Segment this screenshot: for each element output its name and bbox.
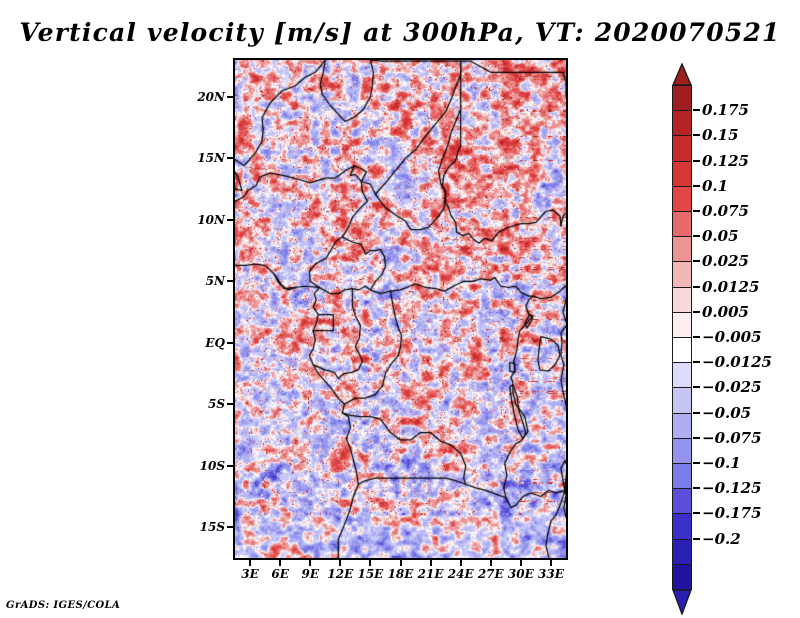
colorbar-band <box>672 413 692 439</box>
colorbar-band <box>672 236 692 262</box>
colorbar-tick-label: −0.05 <box>702 404 751 422</box>
colorbar-tick-label: −0.075 <box>702 429 762 447</box>
latitude-tick-mark <box>227 342 233 344</box>
colorbar-tick-label: −0.0125 <box>702 353 772 371</box>
longitude-tick-label: 27E <box>478 567 504 581</box>
latitude-tick-mark <box>227 465 233 467</box>
colorbar-tick-mark <box>693 538 700 540</box>
colorbar-band <box>672 463 692 489</box>
latitude-tick-label: 15N <box>189 151 225 165</box>
longitude-tick-mark <box>460 560 462 566</box>
colorbar-tick-label: −0.125 <box>702 479 762 497</box>
longitude-tick-mark <box>550 560 552 566</box>
longitude-tick-label: 6E <box>271 567 289 581</box>
colorbar-band <box>672 513 692 539</box>
longitude-tick-mark <box>430 560 432 566</box>
colorbar-tick-mark <box>693 160 700 162</box>
map-plot-area[interactable] <box>233 58 568 560</box>
colorbar-tick-label: 0.075 <box>702 202 749 220</box>
longitude-tick-mark <box>279 560 281 566</box>
latitude-tick-mark <box>227 280 233 282</box>
colorbar-band <box>672 362 692 388</box>
latitude-tick-mark <box>227 403 233 405</box>
colorbar-band <box>672 539 692 565</box>
longitude-tick-mark <box>339 560 341 566</box>
longitude-tick-mark <box>400 560 402 566</box>
colorbar-tick-mark <box>693 386 700 388</box>
colorbar-band <box>672 85 692 111</box>
latitude-tick-label: 10S <box>189 459 225 473</box>
colorbar-tick-mark <box>693 185 700 187</box>
longitude-tick-mark <box>520 560 522 566</box>
longitude-tick-label: 21E <box>418 567 444 581</box>
longitude-tick-label: 12E <box>327 567 353 581</box>
colorbar-tick-mark <box>693 235 700 237</box>
colorbar-tick-mark <box>693 336 700 338</box>
colorbar-band <box>672 287 692 313</box>
longitude-tick-mark <box>309 560 311 566</box>
latitude-tick-mark <box>227 96 233 98</box>
longitude-tick-mark <box>249 560 251 566</box>
colorbar-tick-mark <box>693 134 700 136</box>
longitude-tick-mark <box>490 560 492 566</box>
colorbar-band <box>672 564 692 590</box>
colorbar-band <box>672 312 692 338</box>
colorbar-tick-label: −0.005 <box>702 328 762 346</box>
colorbar-tick-mark <box>693 437 700 439</box>
colorbar-tick-label: 0.175 <box>702 101 749 119</box>
colorbar-tick-mark <box>693 210 700 212</box>
colorbar-tick-mark <box>693 512 700 514</box>
latitude-tick-label: 15S <box>189 520 225 534</box>
latitude-tick-mark <box>227 219 233 221</box>
colorbar-tick-label: 0.1 <box>702 177 728 195</box>
longitude-tick-label: 15E <box>357 567 383 581</box>
colorbar-band <box>672 211 692 237</box>
colorbar-tick-mark <box>693 487 700 489</box>
colorbar-tick-mark <box>693 260 700 262</box>
longitude-tick-label: 9E <box>301 567 319 581</box>
colorbar-tick-label: 0.0125 <box>702 278 759 296</box>
latitude-tick-label: 5N <box>189 274 225 288</box>
colorbar-tick-mark <box>693 311 700 313</box>
page-title: Vertical velocity [m/s] at 300hPa, VT: 2… <box>0 18 800 47</box>
longitude-tick-label: 3E <box>241 567 259 581</box>
colorbar-tick-label: 0.125 <box>702 152 749 170</box>
longitude-tick-mark <box>369 560 371 566</box>
colorbar-tick-label: 0.05 <box>702 227 739 245</box>
longitude-tick-label: 30E <box>508 567 534 581</box>
latitude-tick-mark <box>227 526 233 528</box>
colorbar-tick-label: −0.1 <box>702 454 741 472</box>
colorbar-band <box>672 438 692 464</box>
latitude-tick-label: 20N <box>189 90 225 104</box>
colorbar-tick-label: −0.2 <box>702 530 741 548</box>
latitude-tick-mark <box>227 157 233 159</box>
colorbar-band <box>672 488 692 514</box>
grads-plot-page: Vertical velocity [m/s] at 300hPa, VT: 2… <box>0 0 800 618</box>
colorbar-band <box>672 186 692 212</box>
colorbar-arrow-top <box>670 63 694 87</box>
colorbar-tick-mark <box>693 109 700 111</box>
grads-credit: GrADS: IGES/COLA <box>6 600 120 611</box>
colorbar-band <box>672 387 692 413</box>
colorbar-band <box>672 110 692 136</box>
colorbar-tick-label: 0.005 <box>702 303 749 321</box>
colorbar-band <box>672 161 692 187</box>
colorbar-band <box>672 135 692 161</box>
colorbar-tick-label: −0.025 <box>702 378 762 396</box>
colorbar-band <box>672 261 692 287</box>
longitude-tick-label: 18E <box>388 567 414 581</box>
colorbar-tick-mark <box>693 361 700 363</box>
colorbar-tick-label: −0.175 <box>702 504 762 522</box>
colorbar-arrow-bottom <box>670 589 694 615</box>
colorbar-tick-label: 0.025 <box>702 252 749 270</box>
colorbar-tick-label: 0.15 <box>702 126 739 144</box>
latitude-tick-label: 5S <box>189 397 225 411</box>
colorbar-tick-mark <box>693 412 700 414</box>
colorbar-band <box>672 337 692 363</box>
longitude-tick-label: 33E <box>538 567 564 581</box>
latitude-tick-label: EQ <box>189 336 225 350</box>
colorbar-tick-mark <box>693 286 700 288</box>
longitude-tick-label: 24E <box>448 567 474 581</box>
colorbar-tick-mark <box>693 462 700 464</box>
latitude-tick-label: 10N <box>189 213 225 227</box>
country-borders-overlay <box>235 60 566 558</box>
